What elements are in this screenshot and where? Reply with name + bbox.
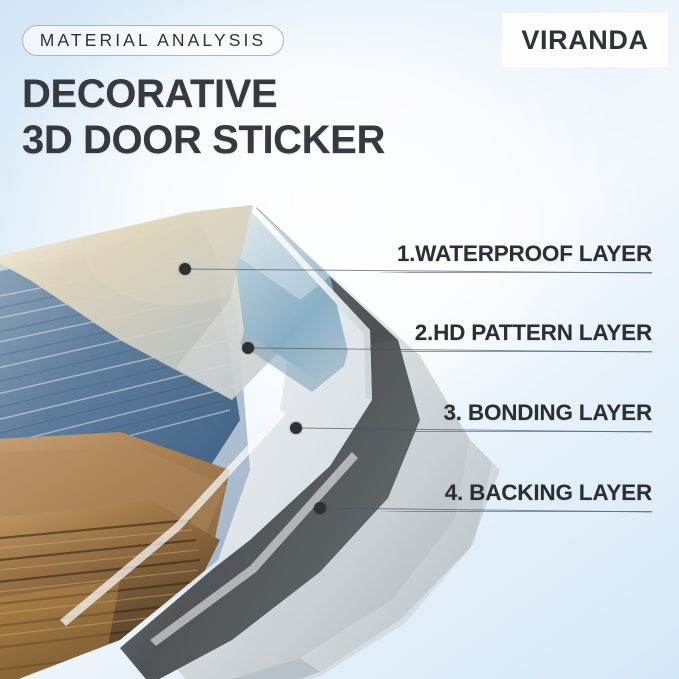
brand-name: VIRANDA: [521, 25, 648, 56]
marker-dot-4: [314, 502, 326, 514]
marker-dot-2: [242, 342, 254, 354]
page-title-line-1: DECORATIVE: [22, 72, 277, 117]
callout-backing-layer: 4. BACKING LAYER: [380, 478, 652, 512]
callout-rule-1: [380, 272, 652, 273]
callout-rule-3: [380, 431, 652, 432]
callout-label-3: 3. BONDING LAYER: [443, 400, 652, 426]
callout-rule-4: [380, 511, 652, 512]
material-analysis-badge: MATERIAL ANALYSIS: [22, 25, 284, 56]
marker-dot-1: [179, 263, 191, 275]
callout-hd-pattern-layer: 2.HD PATTERN LAYER: [380, 318, 652, 352]
marker-dot-3: [290, 422, 302, 434]
badge-label: MATERIAL ANALYSIS: [40, 30, 266, 51]
brand-logo: VIRANDA: [503, 14, 667, 66]
callout-label-4: 4. BACKING LAYER: [445, 480, 652, 506]
callout-label-2: 2.HD PATTERN LAYER: [415, 320, 652, 346]
callout-waterproof-layer: 1.WATERPROOF LAYER: [380, 239, 652, 273]
callout-bonding-layer: 3. BONDING LAYER: [380, 398, 652, 432]
callout-rule-2: [380, 351, 652, 352]
page-title-line-2: 3D DOOR STICKER: [22, 118, 385, 163]
material-analysis-infographic: MATERIAL ANALYSIS DECORATIVE 3D DOOR STI…: [0, 0, 679, 679]
callout-label-1: 1.WATERPROOF LAYER: [397, 241, 652, 267]
